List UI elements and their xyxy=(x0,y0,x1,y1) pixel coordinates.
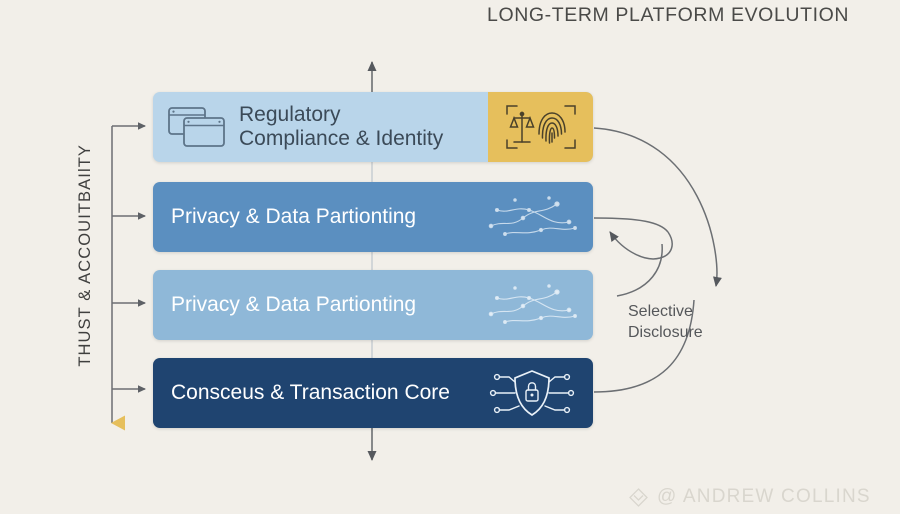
diagram-canvas: LONG-TERM PLATFORM EVOLUTION xyxy=(0,0,900,514)
scales-fingerprint-icon xyxy=(501,100,581,154)
watermark-text: @ ANDREW COLLINS xyxy=(657,486,871,508)
shield-lock-network-icon xyxy=(489,366,575,420)
identity-highlight-panel[interactable] xyxy=(488,92,593,162)
windows-stack-icon xyxy=(167,106,227,148)
layer-4-label: Consceus & Transaction Core xyxy=(171,381,450,405)
watermark: @ ANDREW COLLINS xyxy=(628,486,871,508)
selective-disclosure-arrows xyxy=(594,128,717,392)
layer-consensus-transaction-core[interactable]: Consceus & Transaction Core xyxy=(153,358,593,428)
page-title: LONG-TERM PLATFORM EVOLUTION xyxy=(487,4,849,27)
layer-privacy-data-partitioning-upper[interactable]: Privacy & Data Partionting xyxy=(153,182,593,252)
layer-regulatory-compliance-identity[interactable]: Regulatory Compliance & Identity xyxy=(153,92,593,162)
trust-accountability-axis-label: THUST & ACCOUITBAIlTY xyxy=(72,110,98,400)
layer-privacy-data-partitioning-lower[interactable]: Privacy & Data Partionting xyxy=(153,270,593,340)
layer-2-label: Privacy & Data Partionting xyxy=(171,205,416,229)
connector-overlay xyxy=(0,0,900,514)
trust-axis-text: THUST & ACCOUITBAIlTY xyxy=(76,144,95,367)
layer-3-label: Privacy & Data Partionting xyxy=(171,293,416,317)
neural-network-icon xyxy=(485,192,581,242)
trust-bracket xyxy=(112,126,145,423)
layer-1-label: Regulatory Compliance & Identity xyxy=(239,103,443,152)
diamond-logo-icon xyxy=(628,487,649,508)
selective-disclosure-label: Selective Disclosure xyxy=(628,302,703,344)
neural-network-icon xyxy=(485,280,581,330)
